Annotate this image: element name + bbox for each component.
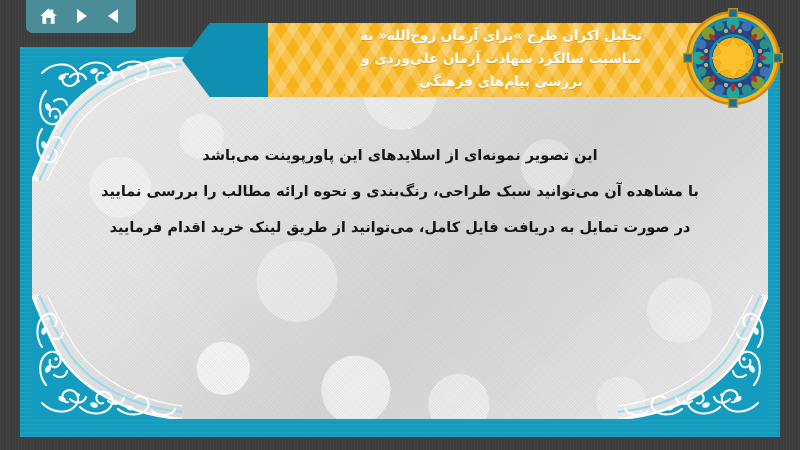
home-icon <box>39 7 58 26</box>
rosette-medallion-icon <box>683 8 783 108</box>
forward-button[interactable] <box>71 6 91 26</box>
triangle-left-icon <box>105 7 123 25</box>
body-line-2: با مشاهده آن می‌توانید سبک طراحی، رنگ‌بن… <box>52 174 748 210</box>
body-line-1: این تصویر نمونه‌ای از اسلایدهای این پاور… <box>52 138 748 174</box>
banner-line-1: تحلیل اکران طرح »برای آرمان روح‌الله« به <box>278 25 724 48</box>
title-banner: تحلیل اکران طرح »برای آرمان روح‌الله« به… <box>182 23 742 97</box>
banner-line-3: بررسی پیام‌های فرهنگی <box>278 71 724 94</box>
slide-body-text: این تصویر نمونه‌ای از اسلایدهای این پاور… <box>52 138 748 246</box>
navigation-bar <box>26 0 136 33</box>
banner-arrow-tab <box>182 23 274 97</box>
triangle-right-icon <box>72 7 90 25</box>
back-button[interactable] <box>104 6 124 26</box>
home-button[interactable] <box>38 6 58 26</box>
banner-body: تحلیل اکران طرح »برای آرمان روح‌الله« به… <box>268 23 742 97</box>
banner-title-text: تحلیل اکران طرح »برای آرمان روح‌الله« به… <box>268 23 742 94</box>
slide-preview-window: تحلیل اکران طرح »برای آرمان روح‌الله« به… <box>0 0 800 450</box>
banner-line-2: مناسبت سالگرد شهادت آرمان علی‌وردی و <box>278 48 724 71</box>
body-line-3: در صورت تمایل به دریافت فایل کامل، می‌تو… <box>52 210 748 246</box>
